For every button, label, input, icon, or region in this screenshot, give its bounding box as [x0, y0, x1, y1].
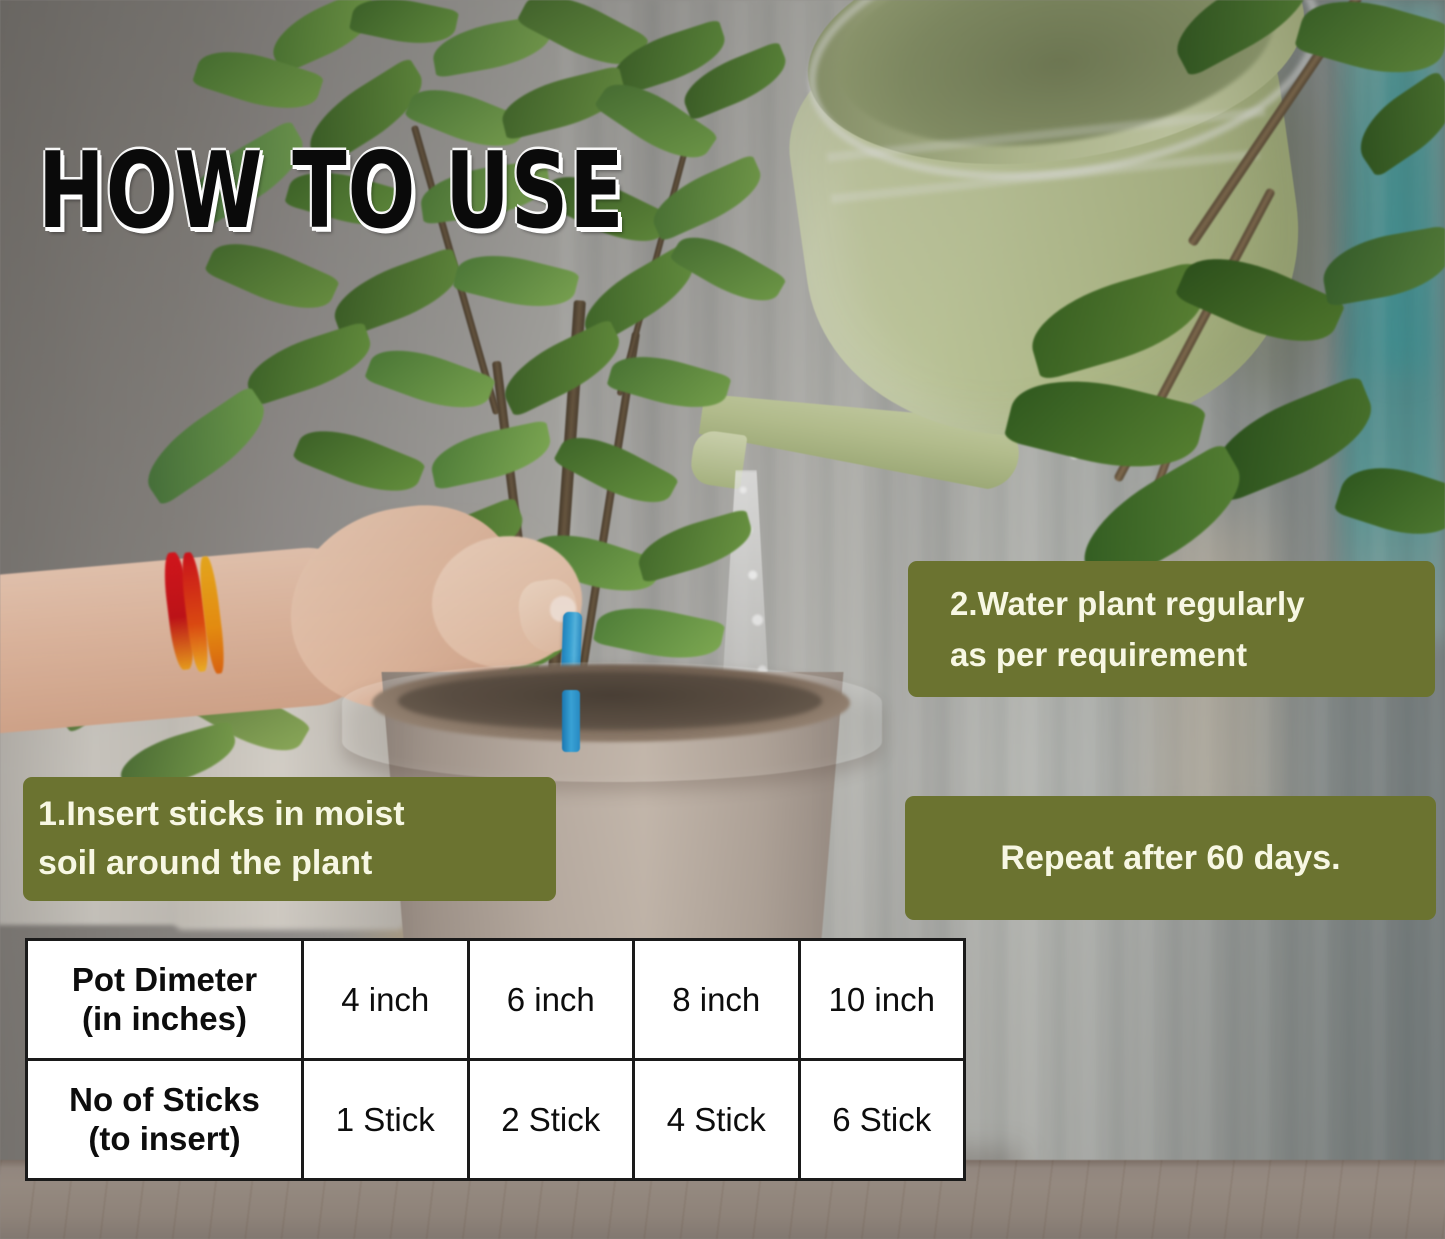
table-cell-diameter-2: 6 inch [468, 940, 634, 1060]
table-rowheader-pot-diameter: Pot Dimeter (in inches) [27, 940, 303, 1060]
table-rowheader-no-of-sticks-line1: No of Sticks [32, 1081, 297, 1120]
callout-step-2: 2.Water plant regularly as per requireme… [908, 561, 1435, 697]
table-cell-sticks-3: 4 Stick [634, 1060, 800, 1180]
table-rowheader-pot-diameter-line1: Pot Dimeter [32, 961, 297, 1000]
callout-step-1-line-2: soil around the plant [38, 839, 556, 888]
callout-step-2-line-1: 2.Water plant regularly [950, 578, 1435, 629]
infographic-canvas: HOW TO USE 1.Insert sticks in moist soil… [0, 0, 1445, 1239]
callout-repeat-line-1: Repeat after 60 days. [1000, 839, 1340, 878]
table-cell-diameter-1: 4 inch [303, 940, 469, 1060]
table-cell-diameter-4: 10 inch [799, 940, 965, 1060]
page-title: HOW TO USE [38, 143, 625, 243]
table-rowheader-pot-diameter-line2: (in inches) [32, 1000, 297, 1039]
table-row: No of Sticks (to insert) 1 Stick 2 Stick… [27, 1060, 965, 1180]
table-rowheader-no-of-sticks-line2: (to insert) [32, 1120, 297, 1159]
table-cell-sticks-2: 2 Stick [468, 1060, 634, 1180]
callout-repeat-interval: Repeat after 60 days. [905, 796, 1436, 920]
table-cell-diameter-3: 8 inch [634, 940, 800, 1060]
callout-step-2-line-2: as per requirement [950, 629, 1435, 680]
table-cell-sticks-4: 6 Stick [799, 1060, 965, 1180]
table-row: Pot Dimeter (in inches) 4 inch 6 inch 8 … [27, 940, 965, 1060]
pot-diameter-stick-table: Pot Dimeter (in inches) 4 inch 6 inch 8 … [25, 938, 966, 1181]
table-cell-sticks-1: 1 Stick [303, 1060, 469, 1180]
blue-fertilizer-stick-inserted [562, 690, 580, 752]
callout-step-1: 1.Insert sticks in moist soil around the… [23, 777, 556, 901]
callout-step-1-line-1: 1.Insert sticks in moist [38, 790, 556, 839]
table-rowheader-no-of-sticks: No of Sticks (to insert) [27, 1060, 303, 1180]
pot-soil [398, 672, 822, 730]
